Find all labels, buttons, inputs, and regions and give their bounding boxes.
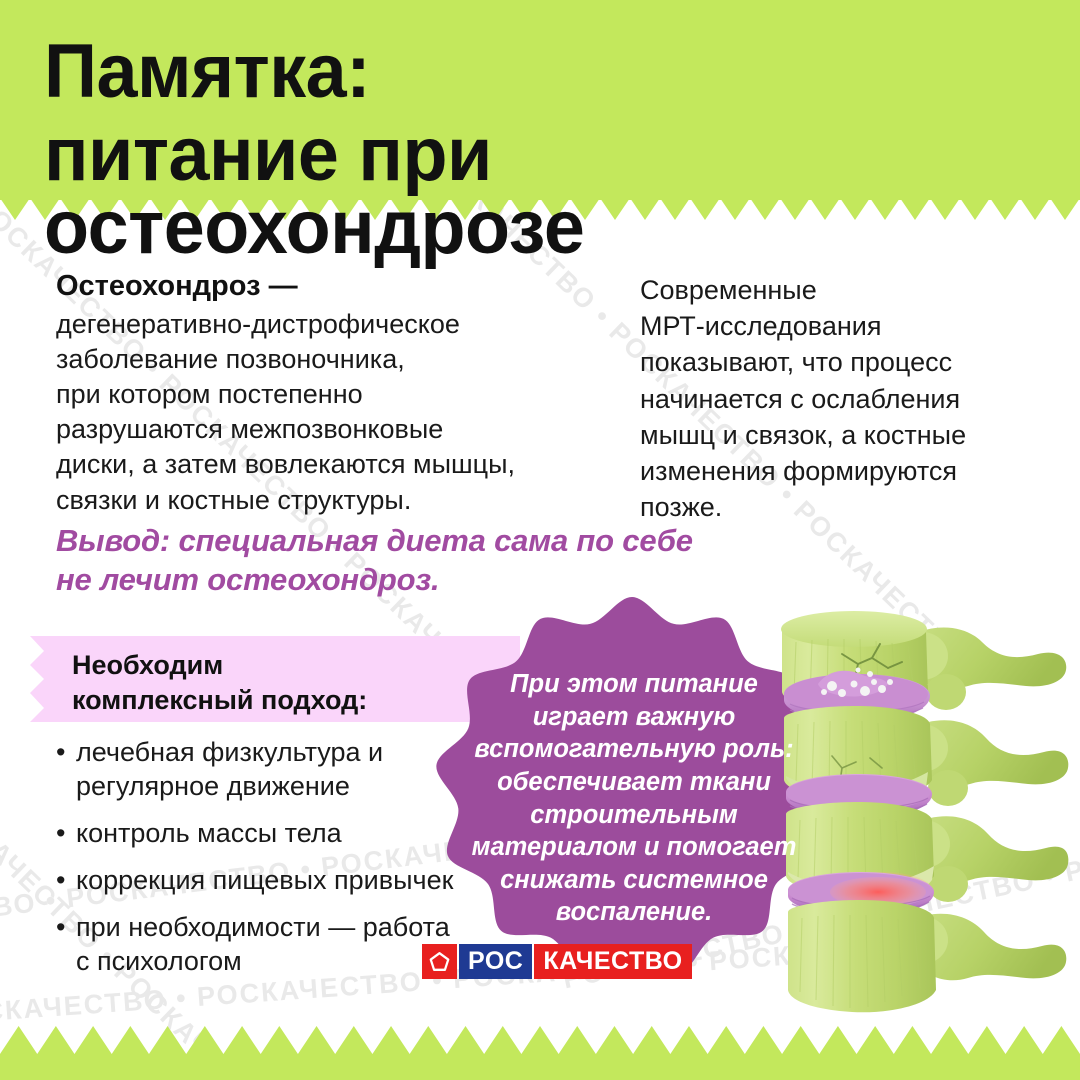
list-item: • лечебная физкультура и регулярное движ… (56, 735, 456, 803)
bullet-icon: • (56, 863, 76, 897)
conclusion-line: Вывод: специальная диета сама по себе (56, 522, 776, 561)
conclusion-statement: Вывод: специальная диета сама по себе не… (56, 522, 776, 600)
mri-line: показывают, что процесс (640, 344, 1040, 380)
conclusion-line: не лечит остеохондроз. (56, 561, 776, 600)
page-title: Памятка: питание при остеохондрозе (44, 36, 1054, 265)
mri-research-block: Современные МРТ-исследования показывают,… (640, 272, 1040, 525)
definition-line: диски, а затем вовлекаются мышцы, (56, 447, 586, 482)
list-item-label: при необходимости — работа с психологом (76, 910, 456, 978)
roskachestvo-logo[interactable]: РОС КАЧЕСТВО (422, 944, 692, 979)
bullet-icon: • (56, 816, 76, 850)
mri-line: изменения формируются (640, 453, 1040, 489)
list-item: • коррекция пищевых привычек (56, 863, 456, 897)
list-item: • при необходимости — работа с психолого… (56, 910, 456, 978)
mri-line: Современные (640, 272, 1040, 308)
mri-research-body: Современные МРТ-исследования показывают,… (640, 272, 1040, 525)
blob-line: При этом питание (456, 668, 812, 701)
definition-block: Остеохондроз — дегенеративно-дистрофичес… (56, 268, 586, 518)
definition-line: разрушаются межпозвонковые (56, 412, 586, 447)
blob-line: обеспечивает ткани (456, 766, 812, 799)
definition-line: при котором постепенно (56, 377, 586, 412)
title-line-1: Памятка: (44, 36, 1024, 109)
logo-word-ros-text: РОС (468, 949, 523, 974)
logo-word-kachestvo-text: КАЧЕСТВО (543, 949, 682, 974)
approach-heading-line: Необходим (72, 648, 492, 683)
list-item-label: контроль массы тела (76, 816, 456, 850)
blob-line: вспомогательную роль: (456, 733, 812, 766)
footer-zigzag-band (0, 1026, 1080, 1080)
blob-line: снижать системное (456, 864, 812, 897)
blob-line: воспаление. (456, 896, 812, 929)
bullet-icon: • (56, 735, 76, 803)
infographic-canvas: РОСКАЧЕСТВО • РОСКАЧЕСТВО • РОСКАЧЕСТВО … (0, 0, 1080, 1080)
logo-word-kachestvo: КАЧЕСТВО (534, 944, 691, 979)
pentagon-icon (422, 944, 457, 979)
blob-line: материалом и помогает (456, 831, 812, 864)
blob-line: играет важную (456, 701, 812, 734)
mri-line: позже. (640, 489, 1040, 525)
list-item-label: коррекция пищевых привычек (76, 863, 456, 897)
mri-line: начинается с ослабления (640, 381, 1040, 417)
list-item-label: лечебная физкультура и регулярное движен… (76, 735, 456, 803)
mri-line: мышц и связок, а костные (640, 417, 1040, 453)
approach-list: • лечебная физкультура и регулярное движ… (56, 735, 456, 991)
definition-line: дегенеративно-дистрофическое (56, 307, 586, 342)
approach-heading: Необходим комплексный подход: (72, 648, 492, 718)
lumbar-spine-degeneration-illustration (770, 596, 1070, 1020)
logo-word-ros: РОС (459, 944, 532, 979)
definition-line: связки и костные структуры. (56, 483, 586, 518)
approach-heading-line: комплексный подход: (72, 683, 492, 718)
title-line-2: питание при остеохондрозе (44, 119, 1024, 265)
list-item: • контроль массы тела (56, 816, 456, 850)
bullet-icon: • (56, 910, 76, 978)
nutrition-role-text: При этом питание играет важную вспомогат… (456, 668, 812, 929)
blob-line: строительным (456, 799, 812, 832)
definition-line: заболевание позвоночника, (56, 342, 586, 377)
definition-term: Остеохондроз — (56, 268, 586, 305)
mri-line: МРТ-исследования (640, 308, 1040, 344)
definition-body: дегенеративно-дистрофическое заболевание… (56, 307, 586, 518)
